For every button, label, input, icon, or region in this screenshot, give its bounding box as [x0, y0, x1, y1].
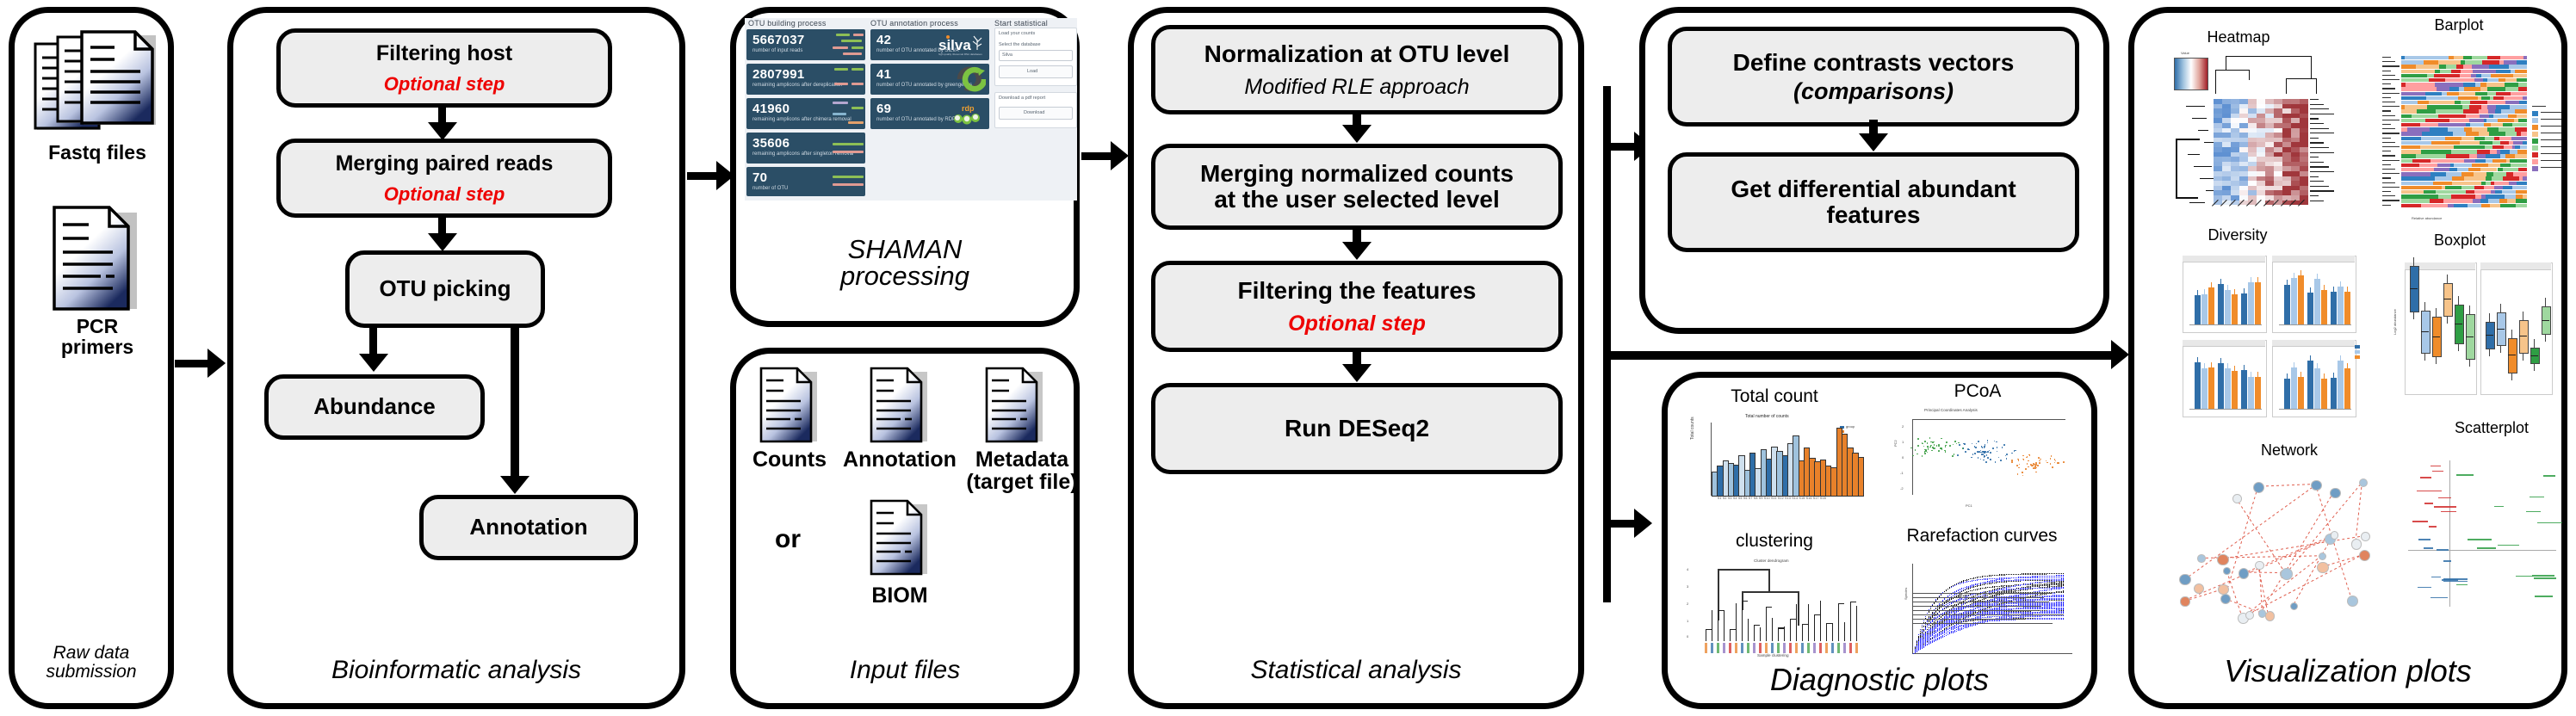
connector-merging-to-otu-head — [428, 233, 457, 251]
panel-input-files: Counts Annotation Metadata (target file)… — [730, 348, 1080, 709]
step-get-differential-abundant-features: Get differential abundant features — [1668, 152, 2079, 252]
panel-contrasts: Define contrasts vectors (comparisons) G… — [1639, 7, 2109, 334]
step-annotation: Annotation — [419, 495, 638, 560]
step-title: Filtering the features — [1238, 278, 1477, 304]
connector-filtering-to-deseq-head — [1342, 364, 1372, 382]
silva-logo-icon: silva high quality ribosomal RNA databas… — [937, 33, 987, 57]
arrow-input-to-statistical-line — [1081, 152, 1112, 160]
shaman-download-button-label: Download — [1024, 110, 1044, 115]
svg-text:high quality ribosomal RNA dat: high quality ribosomal RNA databases — [938, 52, 982, 56]
panel-diagnostic-plots: Total count Total number of counts Total… — [1662, 372, 2097, 709]
shaman-kpi-card[interactable]: 35606 remaining amplicons after singleto… — [746, 133, 865, 164]
connector-otu-to-abundance-head — [359, 354, 388, 372]
shaman-kpi-value: 41 — [876, 67, 891, 82]
shaman-download-title: Download a pdf report — [999, 96, 1045, 101]
shaman-kpi-card[interactable]: 69 number of OTU annotated by RDP rdp — [870, 98, 989, 129]
arrow-statistical-to-contrasts-line — [1603, 143, 1638, 151]
step-title: Merging normalized counts at the user se… — [1200, 161, 1514, 212]
step-subtitle: (comparisons) — [1793, 79, 1954, 104]
panel-diagnostic-plots-label: Diagnostic plots — [1668, 664, 2091, 696]
panel-statistical-analysis-label: Statistical analysis — [1134, 657, 1578, 684]
rarefaction-plot-title: Rarefaction curves — [1883, 526, 2081, 546]
connector-merging-to-filtering-head — [1342, 242, 1372, 260]
step-title: OTU picking — [379, 277, 511, 301]
connector-contrasts-to-differential-head — [1859, 133, 1888, 151]
barplot-plot: Relative abundance — [2381, 52, 2553, 223]
panel-shaman-processing: OTU building process OTU annotation proc… — [730, 7, 1080, 327]
shaman-col2-title: OTU annotation process — [870, 19, 958, 28]
shaman-kpi-card[interactable]: 5667037 number of input reads — [746, 29, 865, 60]
total-count-plot: Total number of counts Total counts grou… — [1688, 414, 1871, 509]
panel-bioinformatic-analysis-label: Bioinformatic analysis — [233, 657, 679, 684]
shaman-kpi-value: 2807991 — [752, 67, 805, 82]
heatmap-plot: Value — [2174, 51, 2355, 223]
step-title: Annotation — [469, 515, 587, 540]
arrow-statistical-to-visualization-head — [2111, 340, 2129, 369]
shaman-kpi-label: remaining amplicons after chimera remova… — [752, 117, 851, 122]
connector-otu-to-annotation-head — [500, 476, 529, 494]
shaman-kpi-card[interactable]: 41 number of OTU annotated by greengenes — [870, 64, 989, 95]
shaman-kpi-value: 5667037 — [752, 33, 805, 47]
arrow-bioinformatic-to-shaman-line — [687, 172, 720, 180]
step-subtitle: Modified RLE approach — [1244, 76, 1469, 99]
rarefaction-plot: Species — [1900, 559, 2078, 664]
panel-shaman-processing-label: SHAMAN processing — [736, 236, 1074, 290]
biom-file-icon — [867, 498, 932, 577]
fastq-files-caption: Fastq files — [15, 142, 180, 163]
panel-visualization-plots-label: Visualization plots — [2134, 656, 2561, 688]
shaman-load-button[interactable]: Load — [999, 65, 1073, 78]
diversity-plot-title: Diversity — [2143, 226, 2332, 244]
svg-text:rdp: rdp — [962, 104, 975, 113]
heatmap-plot-title: Heatmap — [2139, 28, 2338, 46]
arrow-statistical-to-visualization-line — [1603, 351, 2120, 360]
shaman-kpi-label: number of OTU — [752, 186, 788, 191]
arrow-raw-to-bioinformatic-line — [175, 360, 209, 367]
heatmap-colorbar — [2174, 58, 2208, 90]
step-title: Get differential abundant features — [1731, 176, 2016, 227]
shaman-kpi-value: 69 — [876, 102, 891, 116]
shaman-download-button[interactable]: Download — [999, 107, 1073, 120]
shaman-load-button-label: Load — [1027, 69, 1037, 74]
shaman-select-label: Select the database — [999, 42, 1041, 47]
arrow-input-to-statistical-head — [1111, 141, 1129, 170]
shaman-database-select[interactable]: Silva — [999, 50, 1073, 61]
arrow-statistical-to-diagnostic-head — [1634, 509, 1652, 538]
shaman-kpi-value: 42 — [876, 33, 891, 47]
annotation-file-caption: Annotation — [834, 448, 965, 471]
shaman-kpi-label: remaining amplicons after dereplication — [752, 83, 842, 88]
step-title: Abundance — [313, 395, 436, 419]
step-subtitle: Optional step — [384, 184, 505, 204]
shaman-download-card: Download a pdf report Download — [994, 92, 1077, 128]
clustering-plot: Cluster dendrogram 4 3 2 1 0 Sample clus… — [1685, 559, 1871, 662]
step-filtering-features: Filtering the features Optional step — [1151, 261, 1563, 352]
step-run-deseq2: Run DESeq2 — [1151, 383, 1563, 474]
svg-text:silva: silva — [938, 37, 971, 53]
step-filtering-host: Filtering host Optional step — [276, 28, 612, 108]
step-normalization: Normalization at OTU level Modified RLE … — [1151, 25, 1563, 114]
shaman-kpi-card[interactable]: 70 number of OTU — [746, 167, 865, 196]
connector-otu-to-annotation — [511, 328, 519, 481]
shaman-card-title: Load your counts — [999, 31, 1035, 36]
metadata-file-icon — [982, 366, 1048, 445]
panel-input-files-label: Input files — [736, 657, 1074, 684]
counts-file-icon — [757, 366, 822, 445]
shaman-kpi-value: 35606 — [752, 136, 790, 151]
clustering-plot-title: clustering — [1680, 531, 1869, 552]
step-subtitle: Optional step — [384, 74, 505, 94]
step-title: Filtering host — [376, 42, 512, 65]
panel-statistical-analysis: Normalization at OTU level Modified RLE … — [1128, 7, 1584, 709]
pcoa-plot: Principal Coordinates Analysis 2 1 0 -1 … — [1881, 407, 2071, 512]
arrow-raw-to-bioinformatic-head — [207, 349, 226, 378]
step-title: Define contrasts vectors — [1733, 50, 2015, 76]
arrow-statistical-to-diagnostic-line — [1603, 520, 1638, 528]
shaman-col1-title: OTU building process — [748, 19, 827, 28]
step-title: Merging paired reads — [336, 152, 554, 176]
panel-bioinformatic-analysis: Filtering host Optional step Merging pai… — [227, 7, 685, 709]
step-subtitle: Optional step — [1288, 312, 1426, 336]
shaman-kpi-label: number of input reads — [752, 48, 802, 53]
step-title: Normalization at OTU level — [1204, 41, 1510, 67]
total-count-plot-title: Total count — [1680, 386, 1869, 407]
shaman-dashboard-screenshot: OTU building process OTU annotation proc… — [745, 18, 1077, 201]
shaman-kpi-value: 41960 — [752, 102, 790, 116]
barplot-plot-title: Barplot — [2360, 16, 2558, 34]
workflow-diagram: Fastq files PCR primers Raw data submiss… — [0, 0, 2576, 716]
step-define-contrasts-vectors: Define contrasts vectors (comparisons) — [1668, 27, 2079, 127]
scatterplot-plot-title: Scatterplot — [2418, 419, 2565, 437]
pcr-primers-caption: PCR primers — [15, 316, 180, 357]
panel-raw-data-label: Raw data submission — [15, 644, 168, 681]
step-title: Run DESeq2 — [1285, 416, 1429, 441]
shaman-load-counts-card: Load your counts Select the database Sil… — [994, 28, 1077, 86]
counts-file-caption: Counts — [745, 448, 834, 471]
step-abundance: Abundance — [264, 374, 485, 440]
annotation-file-icon — [867, 366, 932, 445]
network-plot — [2169, 460, 2384, 641]
step-merging-paired-reads: Merging paired reads Optional step — [276, 139, 612, 218]
biom-file-caption: BIOM — [838, 584, 962, 607]
shaman-kpi-card[interactable]: 41960 remaining amplicons after chimera … — [746, 98, 865, 129]
boxplot-plot-title: Boxplot — [2365, 231, 2554, 250]
or-separator-label: or — [753, 526, 822, 553]
step-otu-picking: OTU picking — [345, 250, 545, 328]
panel-raw-data: Fastq files PCR primers Raw data submiss… — [9, 7, 174, 709]
greengenes-logo-icon — [938, 66, 986, 92]
boxplot-plot: Log2 abundance — [2393, 262, 2548, 410]
rdp-logo-icon: rdp — [950, 102, 986, 126]
network-plot-title: Network — [2220, 441, 2358, 460]
panel-visualization-plots: Heatmap Value Barplot Relative abundance… — [2128, 7, 2567, 709]
metadata-file-caption: Metadata (target file) — [962, 448, 1082, 494]
shaman-kpi-card[interactable]: 42 number of OTU annotated by SILVA silv… — [870, 29, 989, 60]
pcoa-plot-title: PCoA — [1883, 381, 2072, 402]
pcr-primers-icon — [47, 204, 147, 314]
shaman-select-value: Silva — [1002, 52, 1012, 58]
shaman-kpi-value: 70 — [752, 170, 767, 185]
connector-filtering-to-merging-head — [428, 122, 457, 140]
scatterplot-plot — [2408, 454, 2563, 617]
fastq-files-icon-group — [27, 28, 170, 140]
shaman-kpi-card[interactable]: 2807991 remaining amplicons after derepl… — [746, 64, 865, 95]
step-merging-normalized-counts: Merging normalized counts at the user se… — [1151, 144, 1563, 230]
connector-normalization-to-merging-head — [1342, 125, 1372, 143]
diversity-plot — [2183, 256, 2365, 421]
shaman-kpi-label: number of OTU annotated by RDP — [876, 117, 956, 122]
